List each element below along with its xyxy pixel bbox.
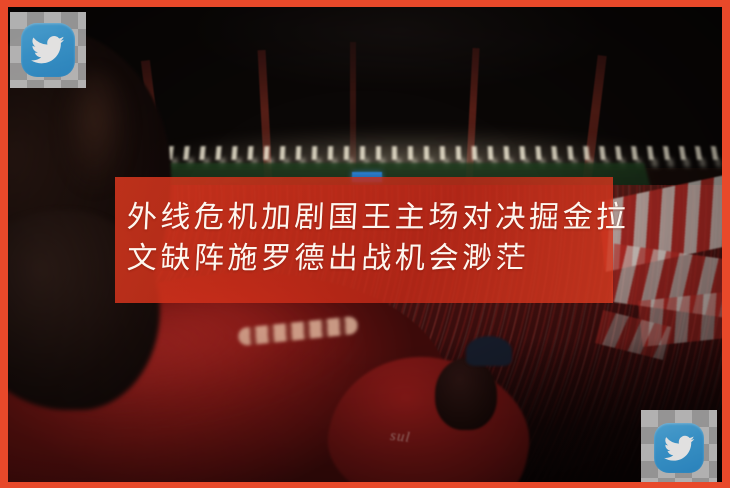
twitter-bird-icon[interactable]	[654, 423, 704, 473]
headline-line-2: 文缺阵施罗德出战机会渺茫	[126, 239, 604, 280]
twitter-bird-icon[interactable]	[21, 23, 75, 77]
crowd-cap-silhouette	[466, 336, 512, 366]
headline-line-1: 外线危机加剧国王主场对决掘金拉	[126, 198, 604, 239]
watermark-top-left[interactable]	[10, 12, 86, 88]
headline-banner: 外线危机加剧国王主场对决掘金拉 文缺阵施罗德出战机会渺茫	[115, 177, 613, 303]
crowd-head-silhouette	[435, 358, 497, 430]
watermark-bottom-right[interactable]	[641, 410, 717, 486]
jersey-sponsor-text: sul	[389, 428, 411, 447]
image-canvas: sul 外线危机加剧国王主场对决掘金拉 文缺阵施罗德出战机会渺茫	[0, 0, 730, 488]
left-silhouette-highlight	[60, 70, 130, 190]
